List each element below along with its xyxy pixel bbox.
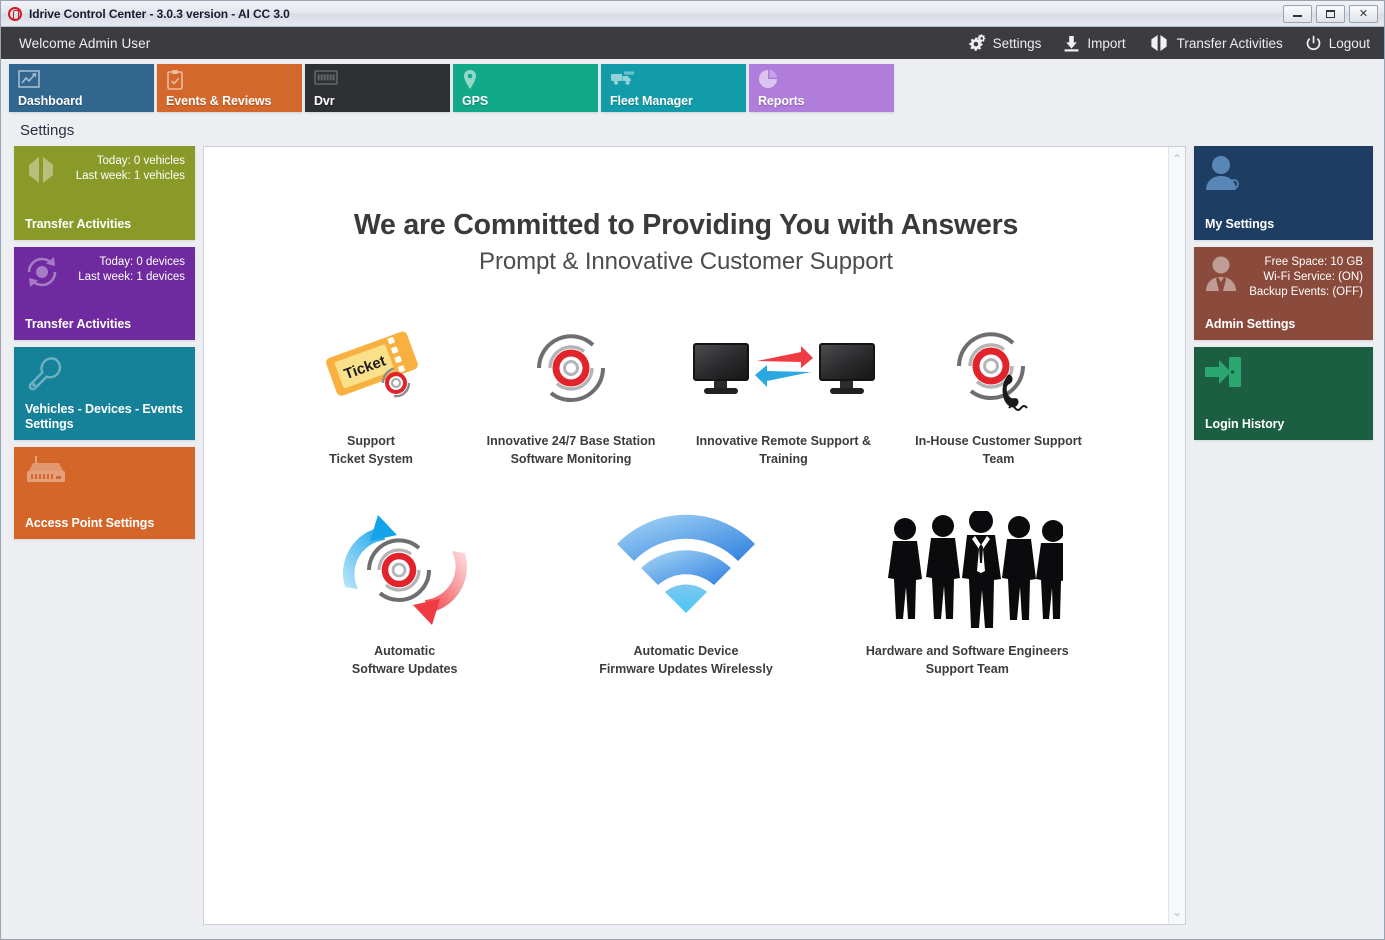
feature-hardware-software-engineers: Hardware and Software Engineers Support … [827, 510, 1108, 678]
hero-section: We are Committed to Providing You with A… [204, 147, 1168, 276]
gear-icon [966, 34, 986, 52]
wifi-signal-icon [611, 510, 761, 630]
tile-stat-line: Wi-Fi Service: (ON) [1249, 270, 1363, 285]
feature-caption: Innovative Remote Support & Training [696, 432, 871, 468]
team-silhouette-icon [871, 510, 1063, 630]
download-icon [1063, 35, 1080, 52]
tab-fleet-manager[interactable]: Fleet Manager [601, 64, 746, 112]
dvr-icon [314, 69, 338, 92]
feature-remote-support-training: Innovative Remote Support & Training [671, 316, 896, 468]
monitor-right-icon [819, 343, 875, 394]
window-controls: ✕ [1283, 5, 1381, 23]
maximize-button[interactable] [1316, 5, 1345, 23]
exchange-arrows-icon [753, 345, 815, 391]
tab-dvr[interactable]: Dvr [305, 64, 450, 112]
remote-monitors-icon [693, 316, 875, 420]
tile-stat-line: Last week: 1 devices [78, 270, 185, 285]
tab-gps-label: GPS [462, 94, 488, 108]
feature-row-2: Automatic Software Updates [204, 510, 1168, 678]
tile-stat-line: Today: 0 vehicles [76, 154, 185, 169]
tile-admin-settings[interactable]: Free Space: 10 GB Wi-Fi Service: (ON) Ba… [1194, 247, 1373, 340]
feature-caption: Automatic Device Firmware Updates Wirele… [599, 642, 773, 678]
maximize-icon [1326, 10, 1335, 18]
truck-icon [610, 69, 636, 92]
login-door-icon [1203, 355, 1243, 394]
left-sidebar: Today: 0 vehicles Last week: 1 vehicles … [14, 146, 195, 925]
tile-title: Transfer Activities [25, 217, 185, 232]
app-logo-icon [8, 7, 22, 21]
feature-in-house-support-team: In-House Customer Support Team [896, 316, 1101, 468]
right-sidebar: My Settings Free Space: 10 GB Wi-Fi Serv… [1194, 146, 1373, 925]
main-tab-strip: Dashboard Events & Reviews [1, 59, 1384, 114]
transfer-arrows-icon [23, 154, 59, 191]
target-logo-icon [529, 316, 613, 420]
tab-reports-label: Reports [758, 94, 805, 108]
tile-title: Vehicles - Devices - Events Settings [25, 402, 185, 432]
feature-row-1: Ticket Support Ticket System [204, 316, 1168, 468]
tile-stats: Today: 0 devices Last week: 1 devices [78, 255, 185, 285]
toolbar-settings-label: Settings [993, 36, 1042, 51]
minimize-button[interactable] [1283, 5, 1312, 23]
content-scrollbar[interactable]: ⌃ ⌄ [1168, 147, 1185, 924]
tile-stat-line: Backup Events: (OFF) [1249, 285, 1363, 300]
page-subtitle: Prompt & Innovative Customer Support [204, 248, 1168, 276]
chart-trend-icon [18, 69, 40, 94]
tab-dashboard-label: Dashboard [18, 94, 82, 108]
window-title: Idrive Control Center - 3.0.3 version - … [29, 7, 290, 21]
feature-automatic-software-updates: Automatic Software Updates [264, 510, 545, 678]
toolbar-transfer-activities-button[interactable]: Transfer Activities [1148, 34, 1283, 52]
map-pin-icon [462, 69, 478, 96]
tile-transfer-activities-devices[interactable]: Today: 0 devices Last week: 1 devices Tr… [14, 247, 195, 340]
welcome-label: Welcome Admin User [19, 36, 150, 51]
feature-base-station-monitoring: Innovative 24/7 Base Station Software Mo… [471, 316, 671, 468]
app-window: Idrive Control Center - 3.0.3 version - … [0, 0, 1385, 940]
tile-login-history[interactable]: Login History [1194, 347, 1373, 440]
tab-reports[interactable]: Reports [749, 64, 894, 112]
feature-caption: Innovative 24/7 Base Station Software Mo… [487, 432, 656, 468]
tab-dvr-label: Dvr [314, 94, 335, 108]
feature-caption: In-House Customer Support Team [915, 432, 1082, 468]
tab-dashboard[interactable]: Dashboard [9, 64, 154, 112]
admin-user-icon [1203, 255, 1239, 296]
tile-stats: Free Space: 10 GB Wi-Fi Service: (ON) Ba… [1249, 255, 1363, 300]
tile-title: Access Point Settings [25, 516, 185, 531]
toolbar-import-label: Import [1087, 36, 1125, 51]
wrench-icon [23, 355, 63, 396]
tile-title: Login History [1205, 417, 1363, 432]
power-icon [1305, 35, 1322, 52]
content-panel: We are Committed to Providing You with A… [203, 146, 1186, 925]
tile-stat-line: Today: 0 devices [78, 255, 185, 270]
body-area: Today: 0 vehicles Last week: 1 vehicles … [1, 146, 1384, 939]
toolbar-settings-button[interactable]: Settings [966, 34, 1042, 52]
toolbar-transfer-activities-label: Transfer Activities [1177, 36, 1283, 51]
feature-caption: Support Ticket System [329, 432, 413, 468]
user-icon [1203, 154, 1241, 195]
tab-fleet-manager-label: Fleet Manager [610, 94, 693, 108]
target-refresh-icon [315, 510, 495, 630]
scroll-down-icon[interactable]: ⌄ [1172, 906, 1182, 918]
tile-stat-line: Last week: 1 vehicles [76, 169, 185, 184]
feature-automatic-firmware-updates: Automatic Device Firmware Updates Wirele… [545, 510, 826, 678]
close-button[interactable]: ✕ [1349, 5, 1378, 23]
tile-vehicles-devices-events-settings[interactable]: Vehicles - Devices - Events Settings [14, 347, 195, 440]
tile-title: Transfer Activities [25, 317, 185, 332]
feature-support-ticket-system: Ticket Support Ticket System [271, 316, 471, 468]
tab-gps[interactable]: GPS [453, 64, 598, 112]
minimize-icon [1293, 15, 1302, 17]
clipboard-check-icon [166, 69, 184, 96]
tile-title: Admin Settings [1205, 317, 1363, 332]
support-ticket-icon: Ticket [315, 316, 427, 420]
pie-chart-icon [758, 69, 778, 94]
toolbar-logout-label: Logout [1329, 36, 1370, 51]
content-canvas: We are Committed to Providing You with A… [204, 147, 1168, 924]
tile-transfer-activities-vehicles[interactable]: Today: 0 vehicles Last week: 1 vehicles … [14, 146, 195, 240]
tile-title: My Settings [1205, 217, 1363, 232]
toolbar-import-button[interactable]: Import [1063, 35, 1125, 52]
monitor-left-icon [693, 343, 749, 394]
tile-my-settings[interactable]: My Settings [1194, 146, 1373, 240]
target-phone-icon [951, 316, 1047, 420]
breadcrumb-bar: Settings [1, 114, 1384, 146]
sync-circle-icon [23, 255, 61, 294]
breadcrumb: Settings [20, 122, 74, 139]
tab-events-reviews-label: Events & Reviews [166, 94, 271, 108]
toolbar-logout-button[interactable]: Logout [1305, 35, 1370, 52]
transfer-arrows-icon [1148, 34, 1170, 52]
toolbar-actions: Settings Import [966, 34, 1370, 52]
feature-caption: Hardware and Software Engineers Support … [866, 642, 1069, 678]
title-bar: Idrive Control Center - 3.0.3 version - … [1, 1, 1384, 27]
feature-caption: Automatic Software Updates [352, 642, 458, 678]
tab-events-reviews[interactable]: Events & Reviews [157, 64, 302, 112]
router-icon [23, 455, 69, 494]
tile-access-point-settings[interactable]: Access Point Settings [14, 447, 195, 539]
page-title: We are Committed to Providing You with A… [204, 209, 1168, 242]
scroll-up-icon[interactable]: ⌃ [1172, 153, 1182, 165]
tile-stats: Today: 0 vehicles Last week: 1 vehicles [76, 154, 185, 184]
close-icon: ✕ [1359, 7, 1368, 20]
top-toolbar: Welcome Admin User Settings [1, 27, 1384, 59]
tile-stat-line: Free Space: 10 GB [1249, 255, 1363, 270]
